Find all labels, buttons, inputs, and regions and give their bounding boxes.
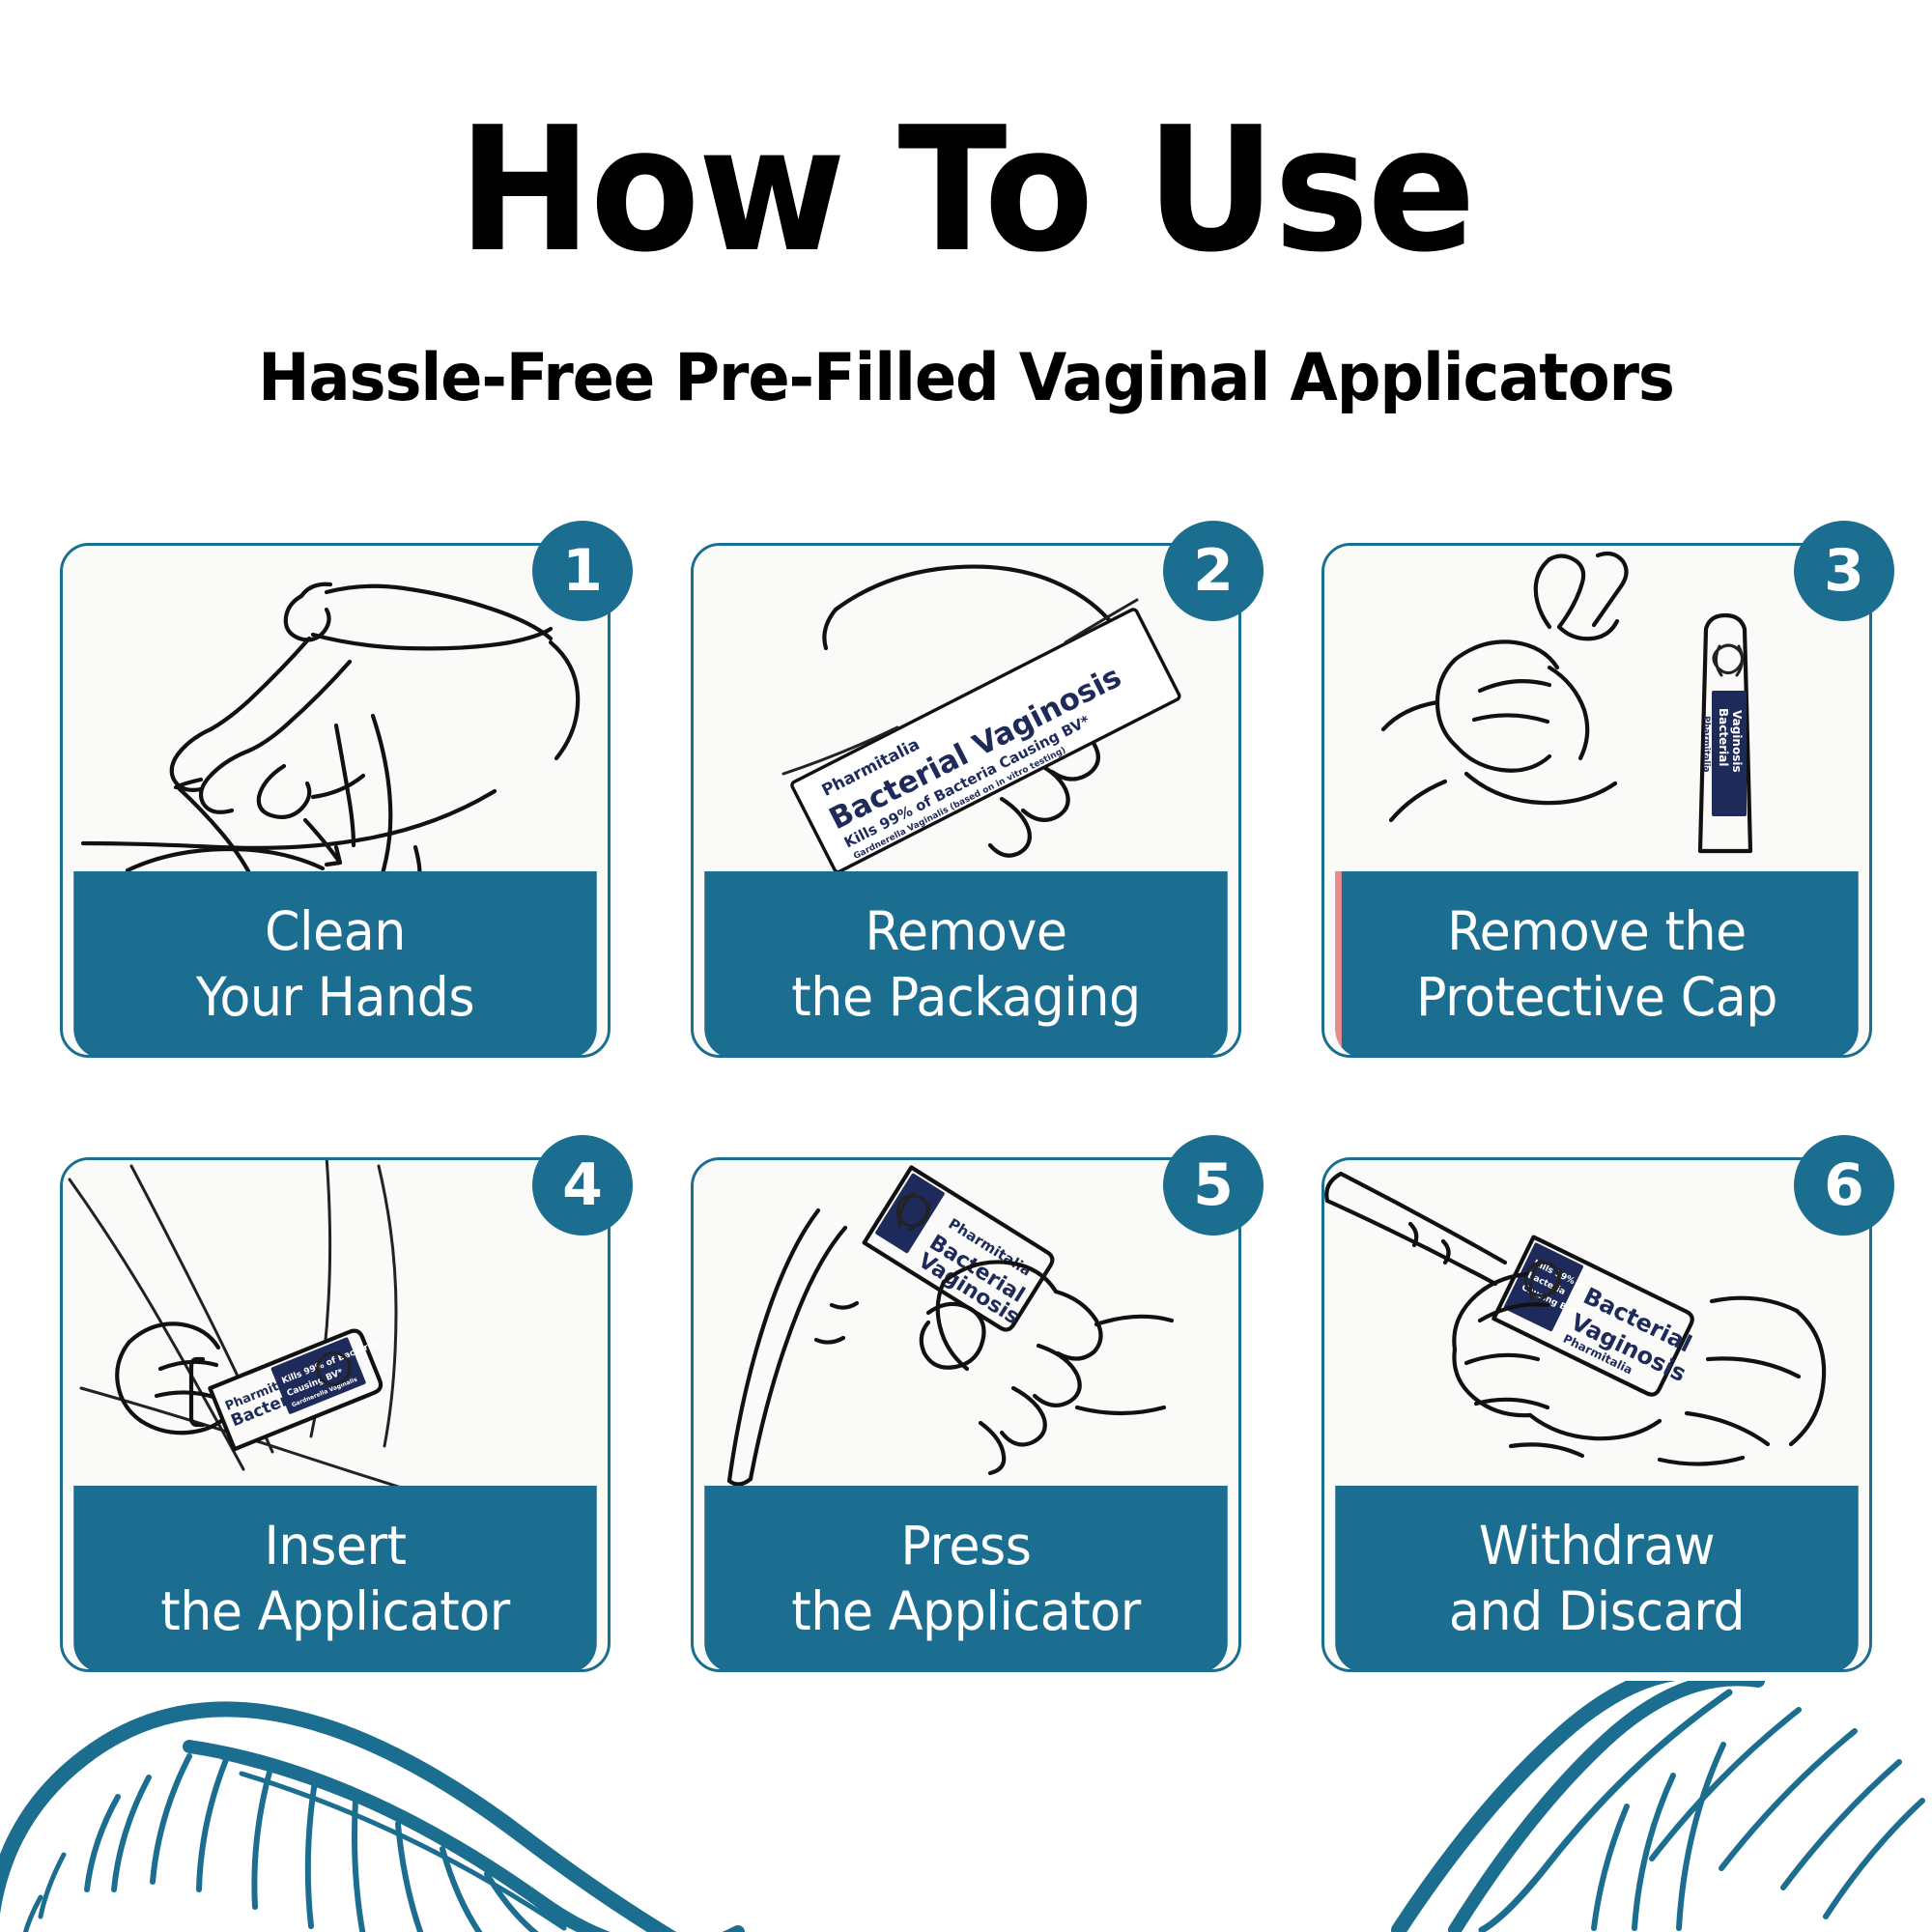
step-caption-4-line1: Insert	[264, 1514, 406, 1578]
step-illustration-5: Pharmitalia Bacterial Vaginosis	[694, 1160, 1238, 1494]
page-title: How To Use	[68, 104, 1864, 276]
step-caption-5-line1: Press	[900, 1514, 1031, 1578]
step-caption-6-line1: Withdraw	[1479, 1514, 1715, 1578]
step-badge-1: 1	[532, 521, 633, 621]
step-card-2[interactable]: 2	[691, 543, 1241, 1058]
how-to-use-poster: How To Use Hassle-Free Pre-Filled Vagina…	[0, 0, 1932, 1932]
page-subtitle: Hassle-Free Pre-Filled Vaginal Applicato…	[58, 344, 1874, 412]
step-card-3[interactable]: 3	[1321, 543, 1872, 1058]
step-caption-1: Clean Your Hands	[73, 871, 597, 1058]
step-badge-4: 4	[532, 1135, 633, 1236]
step-caption-3-line2: Protective Cap	[1416, 965, 1777, 1030]
step-badge-5: 5	[1163, 1135, 1264, 1236]
step-illustration-3: Vaginosis Bacterial Pharmitalia	[1324, 546, 1869, 880]
step-caption-5: Press the Applicator	[704, 1486, 1228, 1672]
step-caption-6-line2: and Discard	[1449, 1579, 1745, 1644]
step-illustration-4: Pharmitalia Bacterial Kills 99% of Bacte…	[63, 1160, 608, 1494]
step-caption-1-line2: Your Hands	[196, 965, 474, 1030]
step-card-6[interactable]: 6 Kills 99% of	[1321, 1157, 1872, 1672]
svg-text:Bacterial: Bacterial	[1717, 708, 1730, 766]
step-badge-6: 6	[1794, 1135, 1894, 1236]
leaf-frond-decoration	[0, 1681, 1932, 1932]
step-illustration-2: Pharmitalia Bacterial Vaginosis Kills 99…	[694, 546, 1238, 880]
step-caption-2: Remove the Packaging	[704, 871, 1228, 1058]
svg-text:Pharmitalia: Pharmitalia	[1701, 716, 1711, 773]
step-caption-6: Withdraw and Discard	[1335, 1486, 1859, 1672]
step-badge-3: 3	[1794, 521, 1894, 621]
step-caption-2-line1: Remove	[865, 899, 1066, 964]
step-illustration-6: Kills 99% of Bacteria Causing BV* Bacter…	[1324, 1160, 1869, 1494]
step-caption-1-line1: Clean	[265, 899, 406, 964]
step-card-4[interactable]: 4	[60, 1157, 611, 1672]
poster-header: How To Use Hassle-Free Pre-Filled Vagina…	[0, 0, 1932, 412]
step-caption-4: Insert the Applicator	[73, 1486, 597, 1672]
svg-text:Vaginosis: Vaginosis	[1730, 710, 1744, 773]
step-badge-2: 2	[1163, 521, 1264, 621]
step-card-5[interactable]: 5 Pharmitalia Bacterial Vaginosis	[691, 1157, 1241, 1672]
steps-grid: 1	[60, 543, 1872, 1672]
step-caption-2-line2: the Packaging	[791, 965, 1140, 1030]
step-caption-5-line2: the Applicator	[791, 1579, 1141, 1644]
step-caption-3-line1: Remove the	[1447, 899, 1747, 964]
step-caption-3: Remove the Protective Cap	[1335, 871, 1859, 1058]
step-illustration-1	[63, 546, 608, 880]
step-caption-4-line2: the Applicator	[160, 1579, 510, 1644]
step-card-1[interactable]: 1	[60, 543, 611, 1058]
